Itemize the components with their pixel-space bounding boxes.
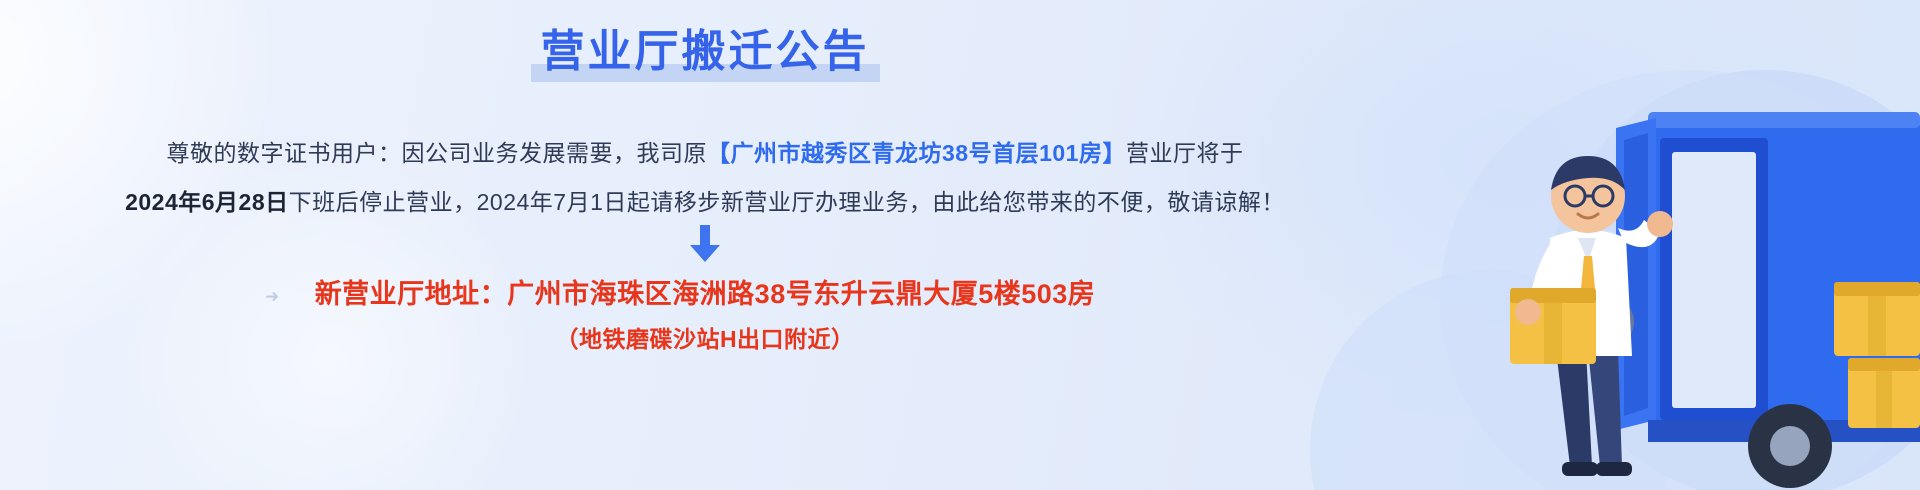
paragraph-1-segment-a: 尊敬的数字证书用户：因公司业务发展需要，我司原 <box>167 140 708 166</box>
announcement-content: 营业厅搬迁公告 尊敬的数字证书用户：因公司业务发展需要，我司原【广州市越秀区青龙… <box>0 0 1410 490</box>
page-title: 营业厅搬迁公告 <box>531 26 880 82</box>
old-address-highlight: 【广州市越秀区青龙坊38号首层101房】 <box>707 140 1126 166</box>
announcement-paragraph-1: 尊敬的数字证书用户：因公司业务发展需要，我司原【广州市越秀区青龙坊38号首层10… <box>0 134 1410 168</box>
down-arrow-icon <box>688 225 722 263</box>
closing-date-highlight: 2024年6月28日 <box>125 189 289 215</box>
down-arrow-wrap <box>0 225 1410 263</box>
relocation-announcement-banner: 营业厅搬迁公告 尊敬的数字证书用户：因公司业务发展需要，我司原【广州市越秀区青龙… <box>0 0 1920 490</box>
new-address-note: （地铁磨碟沙站H出口附近） <box>0 320 1410 354</box>
page-title-wrap: 营业厅搬迁公告 <box>0 26 1410 82</box>
paragraph-1-segment-c: 营业厅将于 <box>1126 140 1244 166</box>
new-address-line: 新营业厅地址：广州市海珠区海洲路38号东升云鼎大厦5楼503房 <box>0 272 1410 311</box>
announcement-paragraph-2: 2024年6月28日下班后停止营业，2024年7月1日起请移步新营业厅办理业务，… <box>0 183 1410 217</box>
paragraph-2-segment-b: 下班后停止营业，2024年7月1日起请移步新营业厅办理业务，由此给您带来的不便，… <box>289 189 1285 215</box>
page-title-text: 营业厅搬迁公告 <box>541 27 870 76</box>
